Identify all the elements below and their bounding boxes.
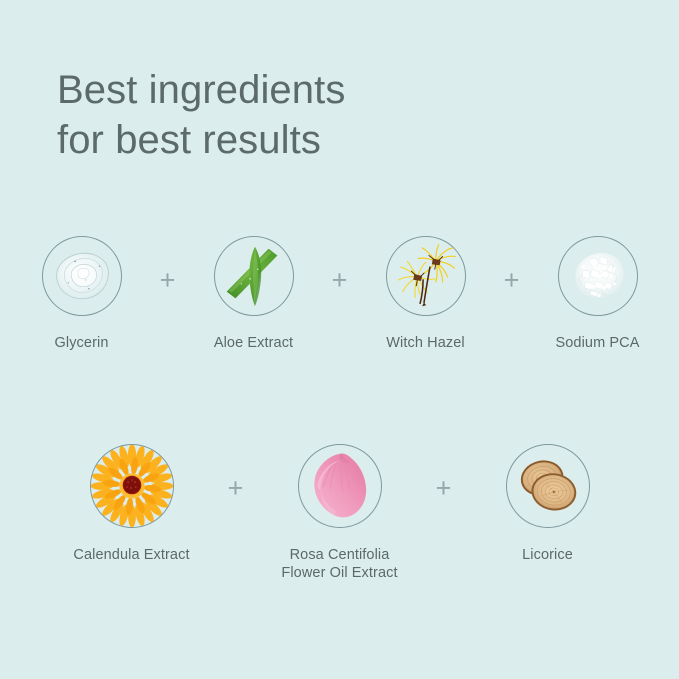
plus-separator: + (320, 236, 360, 324)
ingredient-label: Rosa Centifolia Flower Oil Extract (281, 546, 397, 582)
ingredient-item-sodium-pca: Sodium PCA (532, 236, 664, 352)
ingredient-label: Sodium PCA (555, 334, 639, 352)
ingredient-item-calendula-extract: Calendula Extract (48, 444, 216, 564)
ingredient-row-two: Calendula Extract + (0, 444, 679, 582)
witch-hazel-flower-icon (386, 236, 466, 316)
ingredient-item-rosa-centifolia: Rosa Centifolia Flower Oil Extract (256, 444, 424, 582)
ingredient-item-witch-hazel: Witch Hazel (360, 236, 492, 352)
page-title: Best ingredients for best results (57, 65, 345, 165)
ingredient-item-aloe-extract: Aloe Extract (188, 236, 320, 352)
calendula-flower-icon (90, 444, 174, 528)
aloe-leaf-icon (214, 236, 294, 316)
ingredient-label: Glycerin (55, 334, 109, 352)
rose-petal-icon (298, 444, 382, 528)
licorice-root-icon (506, 444, 590, 528)
ingredient-item-glycerin: Glycerin (16, 236, 148, 352)
ingredient-label: Aloe Extract (214, 334, 293, 352)
plus-separator: + (216, 444, 256, 532)
ingredient-label: Licorice (522, 546, 573, 564)
plus-separator: + (492, 236, 532, 324)
glycerin-gel-icon (42, 236, 122, 316)
ingredient-label: Witch Hazel (386, 334, 464, 352)
plus-separator: + (424, 444, 464, 532)
ingredient-row-one: Glycerin + (0, 236, 679, 352)
ingredients-infographic: Best ingredients for best results (0, 0, 679, 679)
sodium-pca-crystals-icon (558, 236, 638, 316)
ingredient-label: Calendula Extract (73, 546, 189, 564)
ingredient-item-licorice: Licorice (464, 444, 632, 564)
plus-separator: + (148, 236, 188, 324)
